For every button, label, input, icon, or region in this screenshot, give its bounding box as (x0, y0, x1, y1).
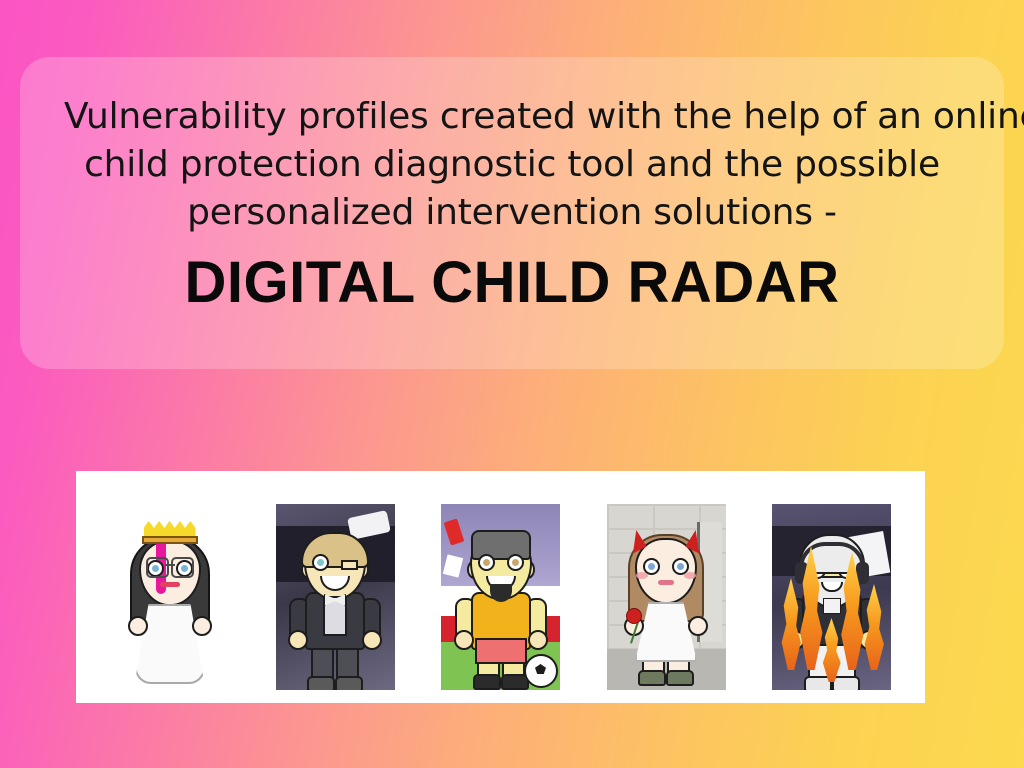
eye-right-icon (507, 554, 524, 571)
avatar-figure (120, 520, 220, 690)
hand-left-icon (454, 630, 474, 650)
subtitle-line-3: personalized intervention solutions - (64, 189, 960, 237)
hand-right-icon (688, 616, 708, 636)
lips-icon (160, 582, 180, 587)
presentation-slide: Vulnerability profiles created with the … (0, 0, 1024, 768)
crown-icon (142, 522, 198, 544)
shoe-right-icon (666, 670, 694, 686)
hand-right-icon (362, 630, 382, 650)
page-title: DIGITAL CHILD RADAR (185, 251, 840, 315)
lips-icon (658, 580, 674, 585)
shoe-right-icon (335, 676, 363, 690)
avatar-card-devil-girl (607, 504, 726, 690)
avatar-card-fire-dj (772, 504, 891, 690)
hand-left-icon (288, 630, 308, 650)
hand-right-icon (192, 616, 212, 636)
shoe-right-icon (832, 676, 860, 690)
shoe-left-icon (473, 674, 501, 690)
avatar-card-footballer (441, 504, 560, 690)
avatar-figure (285, 520, 385, 690)
avatar-card-winking-boy (276, 504, 395, 690)
hand-left-icon (128, 616, 148, 636)
red-rose-icon (626, 608, 642, 624)
shoe-left-icon (804, 676, 832, 690)
soccer-ball-icon (524, 654, 558, 688)
blush-right-icon (684, 572, 696, 579)
avatar-figure (616, 520, 716, 690)
shoe-left-icon (307, 676, 335, 690)
eye-left-icon (312, 554, 329, 571)
blush-left-icon (636, 572, 648, 579)
eye-left-icon (478, 554, 495, 571)
subtitle-block: Vulnerability profiles created with the … (64, 93, 960, 237)
shoe-left-icon (638, 670, 666, 686)
red-shorts-shape (475, 638, 527, 664)
avatar-card-queen-bride (110, 504, 229, 690)
headline-card: Vulnerability profiles created with the … (20, 57, 1004, 369)
eye-right-winking-icon (341, 560, 358, 570)
shirt-shape (823, 598, 841, 614)
subtitle-line-1: Vulnerability profiles created with the … (64, 93, 960, 141)
hand-right-icon (528, 630, 548, 650)
glasses-icon (146, 557, 194, 575)
subtitle-line-2: child protection diagnostic tool and the… (64, 141, 960, 189)
avatar-gallery-panel (76, 471, 925, 703)
